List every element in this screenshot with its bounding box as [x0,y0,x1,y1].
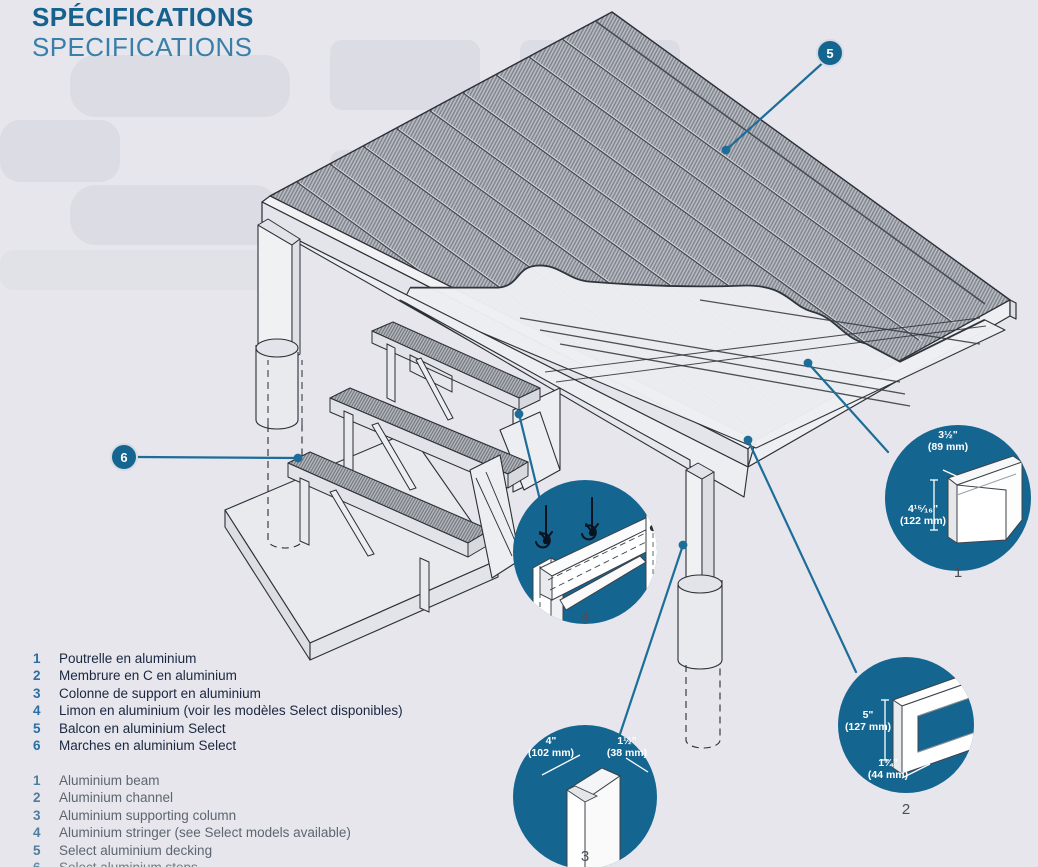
detail-2-dim-bottom-metric: (44 mm) [868,769,908,781]
legend-fr-label-2: Membrure en C en aluminium [59,667,237,684]
legend-en-num-1: 1 [33,772,59,789]
legend-fr-num-3: 3 [33,685,59,702]
legend-en-num-6: 6 [33,859,59,867]
legend-fr-row-4: 4 Limon en aluminium (voir les modèles S… [33,702,403,719]
legend-fr-label-6: Marches en aluminium Select [59,737,236,754]
detail-3-dim-right-metric: (38 mm) [607,747,647,759]
detail-circle-1-aluminium-beam: 3½" (89 mm) 4¹⁵⁄₁₆" (122 mm) [885,425,1031,571]
legend-en-row-4: 4 Aluminium stringer (see Select models … [33,824,351,841]
page-title-french: SPÉCIFICATIONS [32,2,254,32]
legend-en-label-1: Aluminium beam [59,772,160,789]
legend-fr-label-3: Colonne de support en aluminium [59,685,261,702]
detail-number-2: 2 [886,801,926,818]
detail-2-dim-side-imperial: 5" [863,709,874,721]
detail-1-dim-top-metric: (89 mm) [928,441,968,453]
legend-en-num-2: 2 [33,789,59,806]
legend-fr-label-4: Limon en aluminium (voir les modèles Sel… [59,702,403,719]
legend-fr-num-2: 2 [33,667,59,684]
detail-circle-3-supporting-column: 4" (102 mm) 1½" (38 mm) [513,725,657,867]
legend-en-label-5: Select aluminium decking [59,842,212,859]
detail-2-dim-bottom-imperial: 1¾" [878,757,898,769]
detail-3-dim-left-imperial: 4" [546,735,557,747]
legend-french: 1 Poutrelle en aluminium 2 Membrure en C… [33,650,403,754]
legend-en-row-5: 5 Select aluminium decking [33,842,351,859]
detail-1-dim-top-imperial: 3½" [938,429,958,441]
legend-en-num-3: 3 [33,807,59,824]
legend-fr-label-5: Balcon en aluminium Select [59,720,226,737]
legend-en-label-6: Select aluminium steps [59,859,198,867]
detail-1-dim-side-metric: (122 mm) [900,515,946,527]
detail-2-dim-side-metric: (127 mm) [845,721,891,733]
detail-number-4: 4 [565,608,605,625]
callout-marker-steps[interactable]: 6 [110,443,138,471]
specifications-page: SPÉCIFICATIONS SPECIFICATIONS [0,0,1038,867]
legend-fr-num-6: 6 [33,737,59,754]
legend-en-row-2: 2 Aluminium channel [33,789,351,806]
legend-en-num-4: 4 [33,824,59,841]
legend-en-num-5: 5 [33,842,59,859]
legend-english: 1 Aluminium beam 2 Aluminium channel 3 A… [33,772,351,867]
detail-3-dim-right-imperial: 1½" [617,735,637,747]
detail-number-3: 3 [565,848,605,865]
legend-en-row-1: 1 Aluminium beam [33,772,351,789]
detail-3-dim-left-metric: (102 mm) [528,747,574,759]
legend-fr-label-1: Poutrelle en aluminium [59,650,196,667]
legend-en-label-4: Aluminium stringer (see Select models av… [59,824,351,841]
legend-en-row-6: 6 Select aluminium steps [33,859,351,867]
legend-fr-row-1: 1 Poutrelle en aluminium [33,650,403,667]
legend-fr-row-5: 5 Balcon en aluminium Select [33,720,403,737]
page-title-english: SPECIFICATIONS [32,32,254,62]
legend-fr-num-1: 1 [33,650,59,667]
detail-1-dim-side-imperial: 4¹⁵⁄₁₆" [908,503,938,515]
legend-en-label-2: Aluminium channel [59,789,173,806]
legend-fr-row-2: 2 Membrure en C en aluminium [33,667,403,684]
page-title-block: SPÉCIFICATIONS SPECIFICATIONS [32,2,254,62]
legend-en-row-3: 3 Aluminium supporting column [33,807,351,824]
detail-circle-4-aluminium-stringer [513,480,662,668]
detail-number-1: 1 [938,564,978,581]
callout-marker-deck[interactable]: 5 [816,39,844,67]
legend-fr-row-6: 6 Marches en aluminium Select [33,737,403,754]
legend-fr-num-4: 4 [33,702,59,719]
detail-circle-2-aluminium-channel: 5" (127 mm) 1¾" (44 mm) [838,657,1010,793]
legend-en-label-3: Aluminium supporting column [59,807,236,824]
support-column-right [678,463,722,748]
legend-fr-num-5: 5 [33,720,59,737]
legend-fr-row-3: 3 Colonne de support en aluminium [33,685,403,702]
